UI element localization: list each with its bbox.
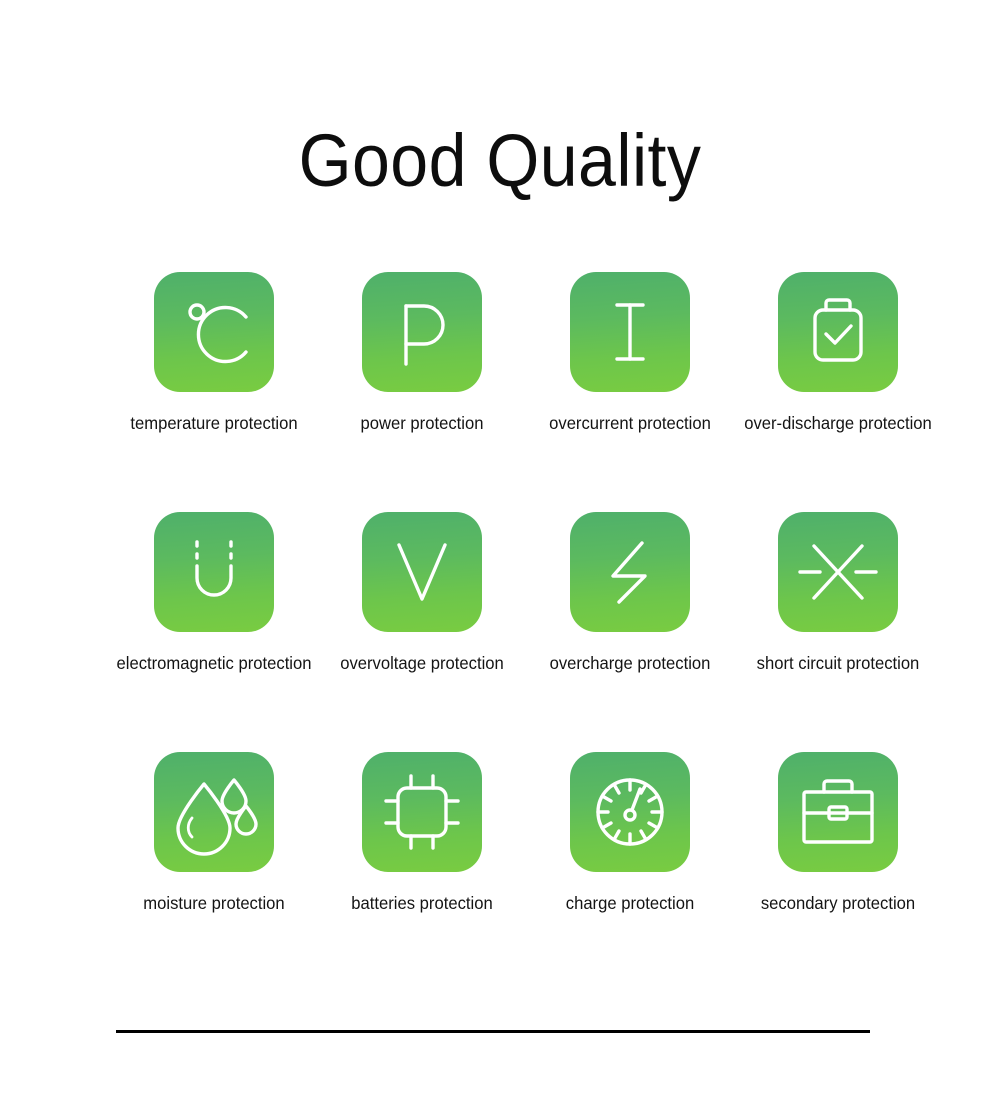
feature-label: secondary protection (739, 890, 937, 916)
briefcase-icon (778, 752, 898, 872)
feature-item-overcharge-protection: overcharge protection (526, 512, 734, 752)
feature-label: electromagnetic protection (115, 650, 313, 676)
bottom-divider-rule (116, 1030, 870, 1033)
feature-icon-tile (778, 752, 898, 872)
horseshoe-magnet-icon (154, 512, 274, 632)
feature-item-overvoltage-protection: overvoltage protection (318, 512, 526, 752)
feature-label: overcurrent protection (531, 410, 729, 436)
feature-grid: temperature protection power protection (110, 272, 890, 992)
lightning-bolt-icon (570, 512, 690, 632)
page-title: Good Quality (40, 118, 960, 204)
quality-feature-page: Good Quality temperature protection powe… (0, 0, 1000, 1117)
feature-label: overvoltage protection (323, 650, 521, 676)
feature-icon-tile (778, 512, 898, 632)
feature-label: power protection (323, 410, 521, 436)
feature-icon-tile (570, 512, 690, 632)
water-droplets-icon (154, 752, 274, 872)
feature-icon-tile (570, 752, 690, 872)
feature-label: overcharge protection (531, 650, 729, 676)
feature-icon-tile (154, 272, 274, 392)
crossed-wires-icon (778, 512, 898, 632)
feature-label: moisture protection (115, 890, 313, 916)
feature-item-charge-protection: charge protection (526, 752, 734, 992)
feature-icon-tile (362, 272, 482, 392)
letter-p-power-icon (362, 272, 482, 392)
gauge-meter-icon (570, 752, 690, 872)
feature-icon-tile (570, 272, 690, 392)
feature-label: charge protection (531, 890, 729, 916)
feature-item-short-circuit-protection: short circuit protection (734, 512, 942, 752)
celsius-degree-icon (154, 272, 274, 392)
feature-item-electromagnetic-protection: electromagnetic protection (110, 512, 318, 752)
feature-item-batteries-protection: batteries protection (318, 752, 526, 992)
letter-i-current-icon (570, 272, 690, 392)
feature-label: short circuit protection (739, 650, 937, 676)
battery-check-icon (778, 272, 898, 392)
feature-label: over-discharge protection (739, 410, 937, 436)
microchip-icon (362, 752, 482, 872)
feature-icon-tile (362, 512, 482, 632)
feature-item-overcurrent-protection: overcurrent protection (526, 272, 734, 512)
feature-label: batteries protection (323, 890, 521, 916)
feature-icon-tile (154, 752, 274, 872)
feature-icon-tile (778, 272, 898, 392)
feature-item-secondary-protection: secondary protection (734, 752, 942, 992)
feature-icon-tile (362, 752, 482, 872)
feature-item-power-protection: power protection (318, 272, 526, 512)
feature-label: temperature protection (115, 410, 313, 436)
feature-item-over-discharge-protection: over-discharge protection (734, 272, 942, 512)
feature-icon-tile (154, 512, 274, 632)
feature-item-moisture-protection: moisture protection (110, 752, 318, 992)
feature-item-temperature-protection: temperature protection (110, 272, 318, 512)
letter-v-voltage-icon (362, 512, 482, 632)
